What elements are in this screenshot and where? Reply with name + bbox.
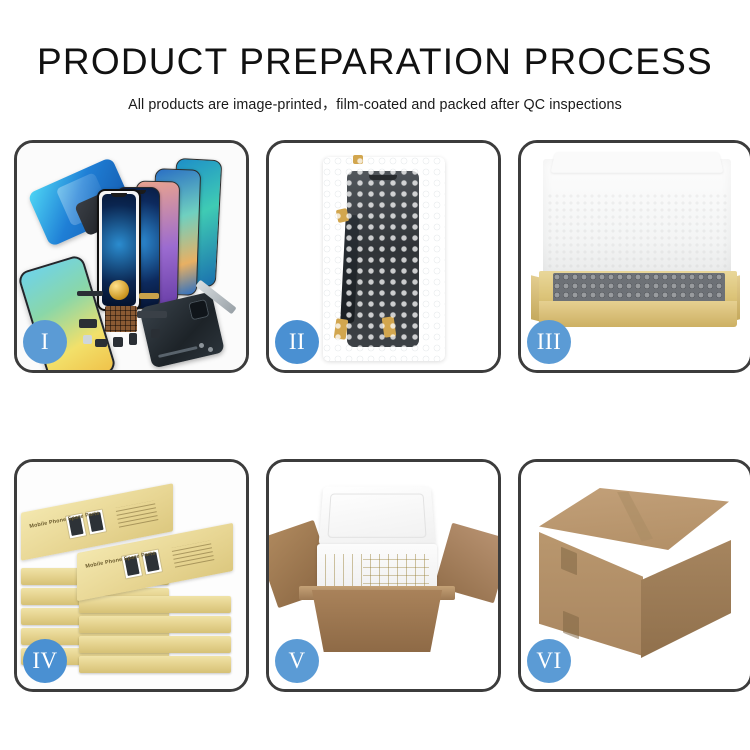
header: PRODUCT PREPARATION PROCESS All products…	[0, 0, 750, 114]
step-panel-6: VI	[518, 459, 750, 692]
carton-body	[303, 590, 451, 652]
process-step-grid: I II	[14, 140, 736, 692]
page-title: PRODUCT PREPARATION PROCESS	[0, 43, 750, 80]
carton-right-face	[641, 540, 731, 658]
flex-part-icon	[95, 339, 107, 347]
flex-part-icon	[139, 293, 159, 299]
screws-icon	[199, 343, 217, 353]
kraft-box-front	[539, 301, 737, 327]
step-badge-1: I	[23, 320, 67, 364]
step-panel-3: III	[518, 140, 750, 373]
chip-array-icon	[105, 306, 137, 332]
step-badge-2: II	[275, 320, 319, 364]
box-layer	[79, 596, 231, 613]
flex-part-icon	[137, 311, 167, 318]
step-badge-5: V	[275, 639, 319, 683]
bubble-wrap-package	[323, 157, 445, 361]
box-layer	[79, 616, 231, 633]
step-panel-1: I	[14, 140, 249, 373]
notch-icon	[111, 193, 127, 197]
phone-lineup	[113, 159, 243, 309]
foam-box-lid	[319, 486, 436, 546]
step-badge-6: VI	[527, 639, 571, 683]
flex-part-icon	[83, 335, 92, 344]
step-panel-5: V	[266, 459, 501, 692]
step-badge-3: III	[527, 320, 571, 364]
step-badge-4: IV	[23, 639, 67, 683]
step-panel-4: Mobile Phone Spare Parts Mobile Phone Sp…	[14, 459, 249, 692]
flex-part-icon	[113, 337, 123, 347]
flex-part-icon	[77, 291, 103, 296]
flex-part-icon	[79, 319, 97, 328]
bubble-texture-overlay	[323, 157, 445, 361]
infographic-page: PRODUCT PREPARATION PROCESS All products…	[0, 0, 750, 750]
flex-part-icon	[129, 333, 137, 345]
box-layer	[79, 656, 231, 673]
box-layer	[79, 636, 231, 653]
step-panel-2: II	[266, 140, 501, 373]
gold-coil-part-icon	[109, 280, 129, 300]
flex-part-icon	[151, 329, 160, 338]
page-subtitle: All products are image-printed，film-coat…	[0, 93, 750, 114]
carton-left-face	[539, 532, 643, 656]
foam-texture	[547, 193, 727, 275]
